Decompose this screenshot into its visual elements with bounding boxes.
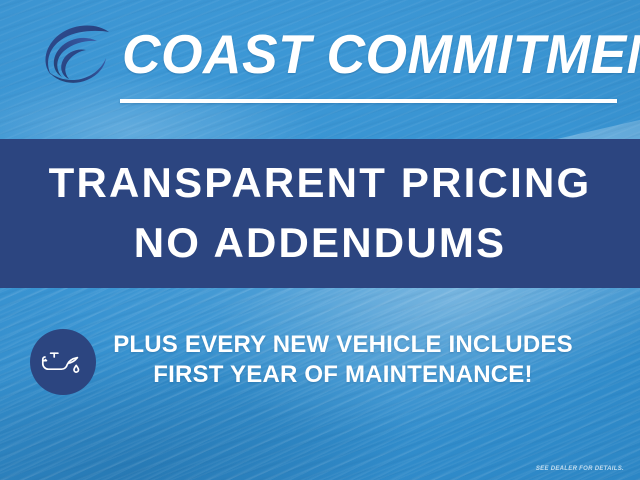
headline-band: TRANSPARENT PRICING NO ADDENDUMS (0, 139, 640, 288)
headline-no-addendums: NO ADDENDUMS (0, 219, 640, 267)
promo-line-1: PLUS EVERY NEW VEHICLE INCLUDES (113, 331, 573, 358)
coast-commitment-banner: COAST COMMITMENT TRANSPARENT PRICING NO … (0, 0, 640, 480)
promo-text: PLUS EVERY NEW VEHICLE INCLUDES FIRST YE… (108, 330, 578, 390)
promo-row: PLUS EVERY NEW VEHICLE INCLUDES FIRST YE… (0, 325, 640, 401)
coast-wave-logo-icon (31, 22, 115, 92)
page-title: COAST COMMITMENT (122, 23, 607, 85)
header-divider (120, 99, 617, 103)
disclaimer-text: SEE DEALER FOR DETAILS. (536, 466, 624, 472)
promo-line-2: FIRST YEAR OF MAINTENANCE! (108, 360, 578, 390)
banner-header: COAST COMMITMENT (0, 0, 640, 112)
headline-transparent-pricing: TRANSPARENT PRICING (0, 159, 640, 207)
oil-can-badge (30, 329, 96, 395)
oil-can-icon (41, 346, 85, 378)
